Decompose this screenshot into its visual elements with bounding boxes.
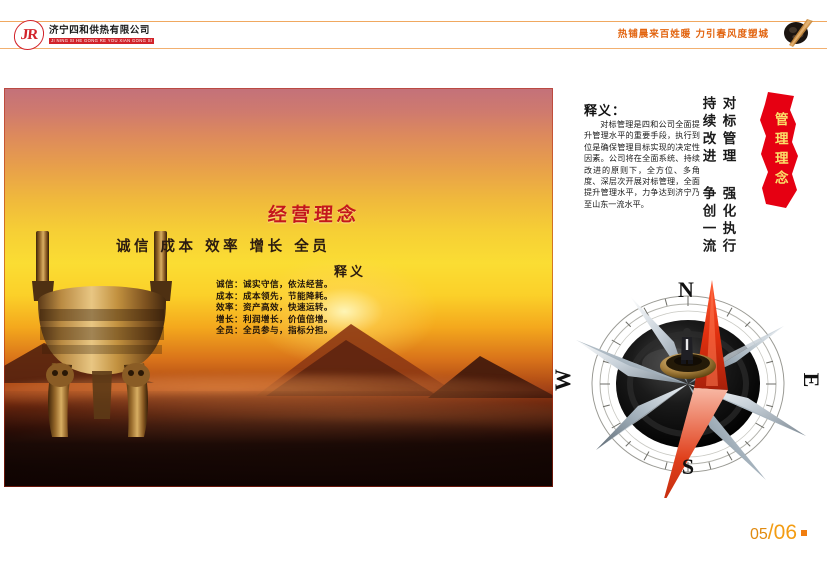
definition-item: 诚信：诚实守信，依法经营。	[216, 280, 333, 292]
compass-west-label: W	[550, 369, 575, 391]
banner-text: 管理理念	[772, 112, 786, 190]
poster-shiyi-label: 释义	[334, 261, 366, 280]
header-slogan: 热铺晨来百姓暖 力引春风度塑城	[618, 26, 769, 40]
shiyi-paragraph: 对标管理是四和公司全面提升管理水平的重要手段，执行到位是确保管理目标实现的决定性…	[584, 119, 700, 210]
company-name-cn: 济宁四和供热有限公司	[49, 26, 154, 36]
page-current: 05	[750, 526, 768, 544]
page-number: 05 / 06	[750, 521, 807, 545]
company-name-en: JI NING SI HE GONG RE YOU XIAN GONG SI	[49, 38, 154, 44]
bronze-ding-icon	[22, 223, 194, 453]
company-name-block: 济宁四和供热有限公司 JI NING SI HE GONG RE YOU XIA…	[49, 26, 154, 44]
vertical-slogan-right: 对标管理 强化执行	[720, 96, 734, 256]
main-poster-image: 经营理念 诚信 成本 效率 增长 全员 释义 诚信：诚实守信，依法经营。 成本：…	[4, 88, 553, 487]
definition-item: 全员：全员参与，指标分担。	[216, 326, 333, 338]
definition-item: 增长：利润增长，价值倍增。	[216, 315, 333, 327]
page-marker-dot	[801, 530, 807, 536]
compass-rose-icon: N W E S	[548, 272, 826, 498]
definition-item: 成本：成本领先，节能降耗。	[216, 292, 333, 304]
page-header: JR 济宁四和供热有限公司 JI NING SI HE GONG RE YOU …	[0, 0, 827, 56]
compass-north-label: N	[678, 277, 694, 302]
compass-south-label: S	[682, 454, 694, 479]
poster-title: 经营理念	[267, 200, 361, 227]
vertical-slogan-left: 持续改进 争创一流	[700, 96, 714, 256]
right-text-panel: 释义： 对标管理是四和公司全面提升管理水平的重要手段，执行到位是确保管理目标实现…	[562, 88, 824, 288]
company-logo[interactable]: JR 济宁四和供热有限公司 JI NING SI HE GONG RE YOU …	[14, 20, 154, 50]
poster-core-values: 诚信 成本 效率 增长 全员	[116, 235, 330, 256]
poster-definition-list: 诚信：诚实守信，依法经营。 成本：成本领先，节能降耗。 效率：资产高效，快速运转…	[216, 280, 333, 338]
compass-east-label: E	[799, 373, 824, 388]
definition-item: 效率：资产高效，快速运转。	[216, 303, 333, 315]
ink-brush-seal-icon	[781, 18, 815, 48]
red-vertical-banner: 管理理念	[752, 90, 806, 212]
banner-text-wrap: 管理理念	[752, 90, 806, 212]
page-total: 06	[774, 521, 797, 545]
shiyi-heading: 释义：	[584, 100, 626, 119]
jr-monogram-icon: JR	[12, 20, 45, 50]
